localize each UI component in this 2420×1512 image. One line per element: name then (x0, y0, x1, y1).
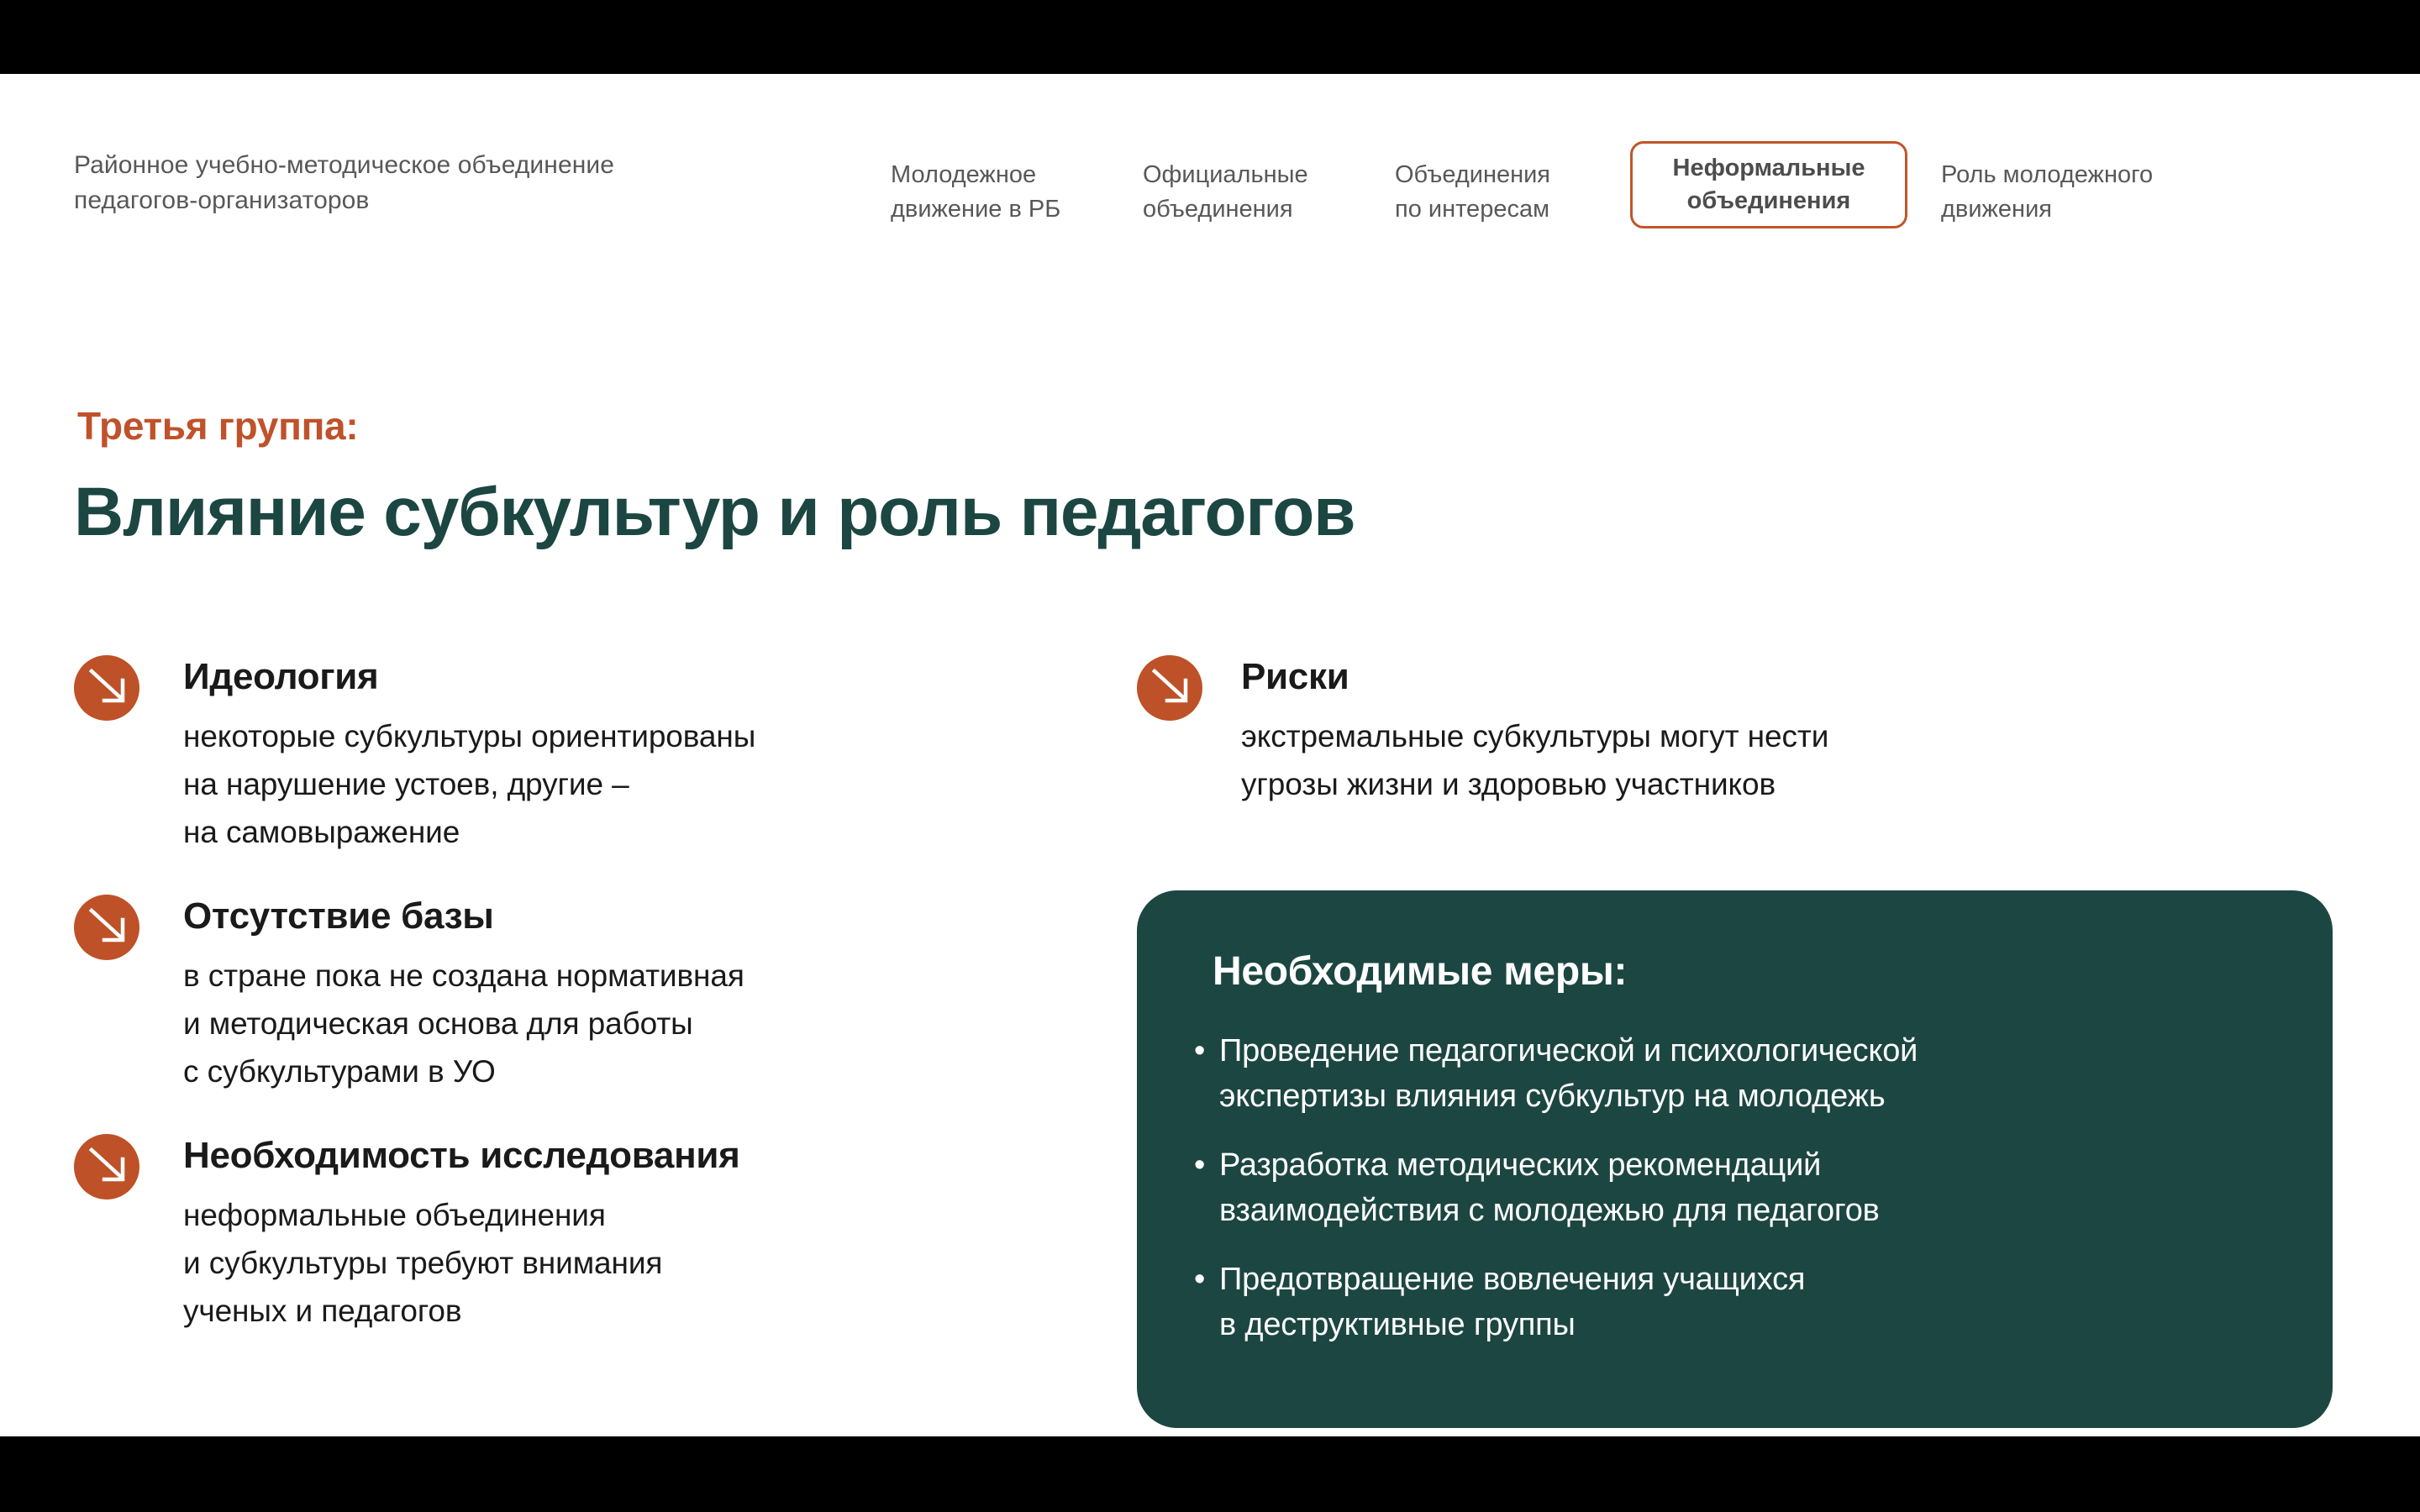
section-nav: Молодежное движение в РБ Официальные объ… (874, 141, 2370, 234)
point-item: Идеология некоторые субкультуры ориентир… (74, 654, 1065, 856)
point-body: Идеология некоторые субкультуры ориентир… (74, 654, 1065, 856)
nav-item-obedineniya-po-interesam[interactable]: Объединения по интересам (1395, 158, 1605, 227)
nav-item-line2: объединения (1687, 185, 1851, 218)
measures-card-title: Необходимые меры: (1194, 948, 2270, 996)
nav-item-line2: движение в РБ (891, 192, 1109, 227)
point-item: Риски экстремальные субкультуры могут не… (1137, 654, 2347, 808)
nav-item-line1: Неформальные (1673, 152, 1865, 185)
slide-root: Районное учебно-методическое объединение… (0, 0, 2420, 1512)
measure-list-item: • Проведение педагогической и психологич… (1194, 1028, 2270, 1119)
right-points-column: Риски экстремальные субкультуры могут не… (1137, 654, 2347, 845)
point-item: Необходимость исследования неформальные … (74, 1132, 1065, 1335)
nav-item-line1: Роль молодежного (1941, 158, 2210, 192)
nav-item-oficialnye-obedineniya[interactable]: Официальные объединения (1143, 158, 1353, 227)
nav-item-line2: объединения (1143, 192, 1353, 227)
point-text: в стране пока не создана нормативная и м… (183, 952, 1065, 1095)
measures-card: Необходимые меры: • Проведение педагогич… (1137, 890, 2333, 1428)
bullet-dot-icon: • (1194, 1142, 1219, 1188)
organization-title-line2: педагогов-организаторов (74, 183, 763, 218)
nav-item-line1: Официальные (1143, 158, 1353, 192)
slide-kicker: Третья группа: (77, 403, 358, 449)
nav-item-line1: Молодежное (891, 158, 1109, 192)
arrow-down-right-icon (74, 655, 139, 721)
point-body: Риски экстремальные субкультуры могут не… (1137, 654, 2347, 808)
point-text: некоторые субкультуры ориентированы на н… (183, 712, 1065, 856)
slide-header: Районное учебно-методическое объединение… (0, 74, 2420, 234)
point-body: Необходимость исследования неформальные … (74, 1132, 1065, 1335)
slide-canvas: Районное учебно-методическое объединение… (0, 74, 2420, 1436)
bullet-dot-icon: • (1194, 1257, 1219, 1302)
left-points-column: Идеология некоторые субкультуры ориентир… (74, 654, 1065, 1372)
bullet-dot-icon: • (1194, 1028, 1219, 1074)
arrow-down-right-icon (74, 1134, 139, 1200)
point-text: экстремальные субкультуры могут нести уг… (1241, 712, 2347, 808)
point-heading: Необходимость исследования (183, 1132, 1065, 1179)
arrow-down-right-icon (1137, 655, 1202, 721)
nav-item-line2: по интересам (1395, 192, 1605, 227)
measure-text: Разработка методических рекомендаций вза… (1219, 1142, 1880, 1233)
page-title: Влияние субкультур и роль педагогов (74, 472, 1355, 553)
nav-item-rol-molodezhnogo-dvizheniya[interactable]: Роль молодежного движения (1941, 158, 2210, 227)
point-item: Отсутствие базы в стране пока не создана… (74, 893, 1065, 1095)
nav-item-line2: движения (1941, 192, 2210, 227)
point-heading: Риски (1241, 654, 2347, 701)
measure-list-item: • Предотвращение вовлечения учащихся в д… (1194, 1257, 2270, 1347)
point-heading: Идеология (183, 654, 1065, 701)
measure-text: Предотвращение вовлечения учащихся в дес… (1219, 1257, 1805, 1347)
nav-item-molodezhnoe-dvizhenie[interactable]: Молодежное движение в РБ (891, 158, 1109, 227)
nav-item-neformalnye-obedineniya-active[interactable]: Неформальные объединения (1630, 141, 1907, 228)
organization-title: Районное учебно-методическое объединение… (74, 148, 763, 218)
point-text: неформальные объединения и субкультуры т… (183, 1191, 1065, 1335)
point-heading: Отсутствие базы (183, 893, 1065, 940)
organization-title-line1: Районное учебно-методическое объединение (74, 148, 763, 183)
measure-list-item: • Разработка методических рекомендаций в… (1194, 1142, 2270, 1233)
measure-text: Проведение педагогической и психологичес… (1219, 1028, 1918, 1119)
point-body: Отсутствие базы в стране пока не создана… (74, 893, 1065, 1095)
arrow-down-right-icon (74, 895, 139, 960)
nav-item-line1: Объединения (1395, 158, 1605, 192)
